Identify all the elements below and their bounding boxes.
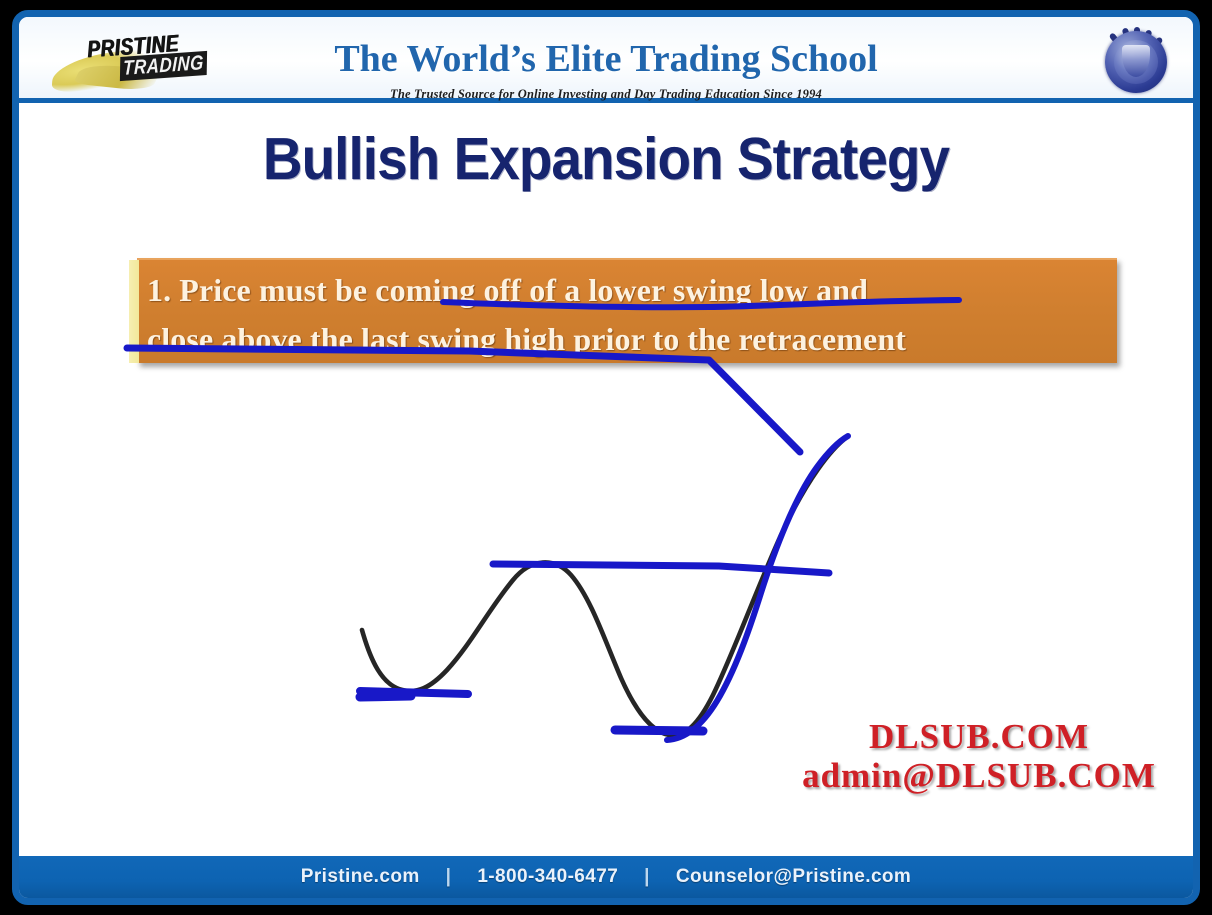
slide-header: PRISTINE TRADING The World’s Elite Tradi…	[19, 17, 1193, 103]
callout-line-2: close above the last swing high prior to…	[147, 321, 1113, 358]
callout-left-accent	[129, 260, 139, 363]
pristine-seal-icon	[1101, 27, 1171, 97]
first-swing-low-mark-ink-2	[360, 696, 411, 697]
footer-separator-2: |	[644, 866, 650, 888]
page-title: Bullish Expansion Strategy	[60, 125, 1152, 193]
slide-footer: Pristine.com | 1-800-340-6477 | Counselo…	[19, 856, 1193, 898]
footer-separator-1: |	[446, 866, 452, 888]
slide-canvas: PRISTINE TRADING The World’s Elite Tradi…	[0, 0, 1212, 915]
callout-pointer-ink	[127, 348, 800, 452]
header-subtitle: The Trusted Source for Online Investing …	[19, 87, 1193, 102]
callout-line-1: 1. Price must be coming off of a lower s…	[147, 272, 1113, 309]
price-action-curve-ink	[362, 437, 847, 735]
footer-phone[interactable]: 1-800-340-6477	[477, 866, 618, 888]
watermark-site: DLSUB.COM	[779, 717, 1179, 756]
first-swing-low-mark-ink	[360, 691, 468, 694]
header-title: The World’s Elite Trading School	[19, 40, 1193, 78]
slide-frame: PRISTINE TRADING The World’s Elite Tradi…	[12, 10, 1200, 905]
footer-email[interactable]: Counselor@Pristine.com	[676, 866, 911, 888]
second-swing-low-mark-ink	[615, 730, 703, 731]
rule-callout-box: 1. Price must be coming off of a lower s…	[137, 258, 1117, 363]
expansion-rally-ink	[667, 436, 848, 740]
footer-website[interactable]: Pristine.com	[301, 866, 420, 888]
watermark-email: admin@DLSUB.COM	[779, 756, 1179, 795]
swing-high-line-ink	[493, 564, 829, 573]
watermark: DLSUB.COM admin@DLSUB.COM	[779, 717, 1179, 795]
